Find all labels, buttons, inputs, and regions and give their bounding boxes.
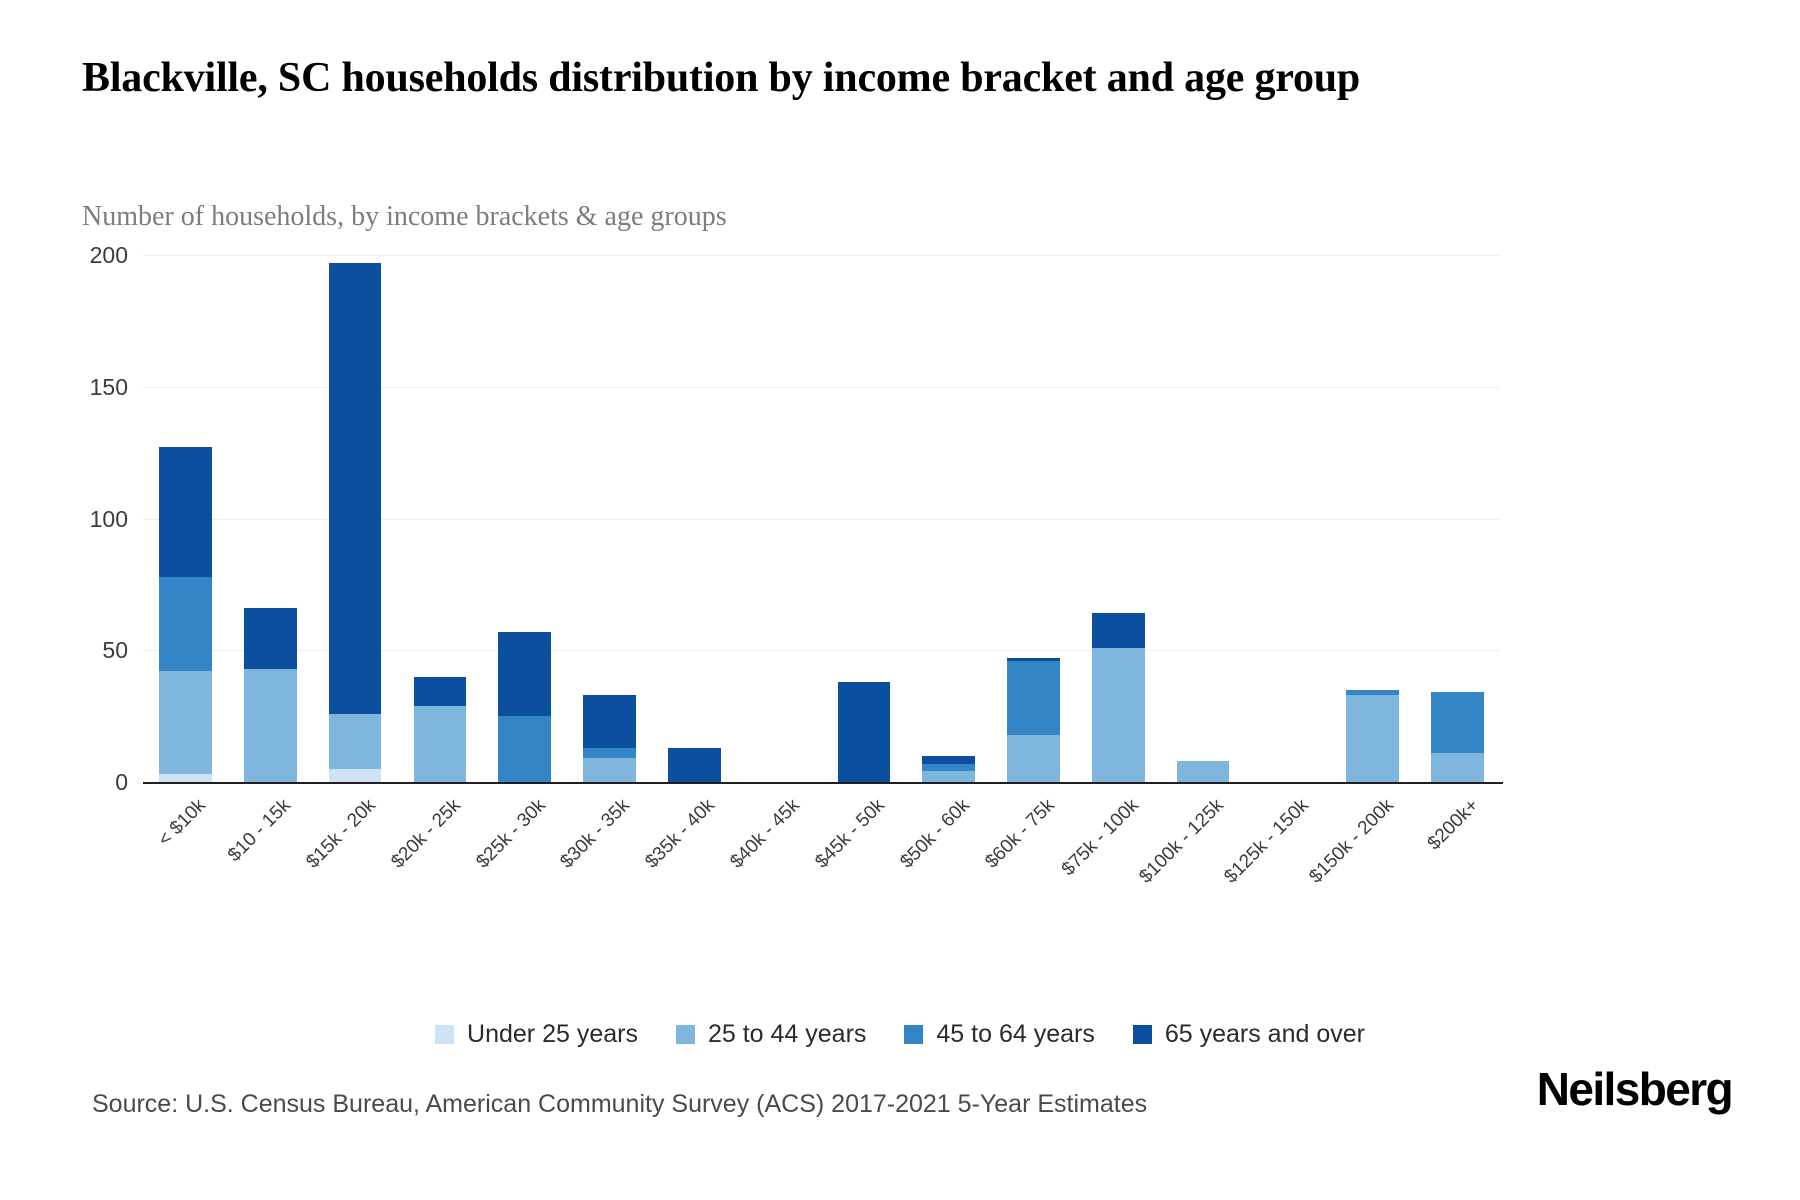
legend-item[interactable]: 45 to 64 years — [904, 1020, 1094, 1049]
bar-segment[interactable] — [668, 748, 721, 782]
bar-segment[interactable] — [329, 714, 382, 769]
bar-stack[interactable] — [1431, 692, 1484, 782]
bar-segment[interactable] — [498, 632, 551, 716]
x-axis-tick-label: $150k - 200k — [1305, 795, 1398, 888]
bar-stack[interactable] — [1092, 613, 1145, 782]
bar-segment[interactable] — [1007, 661, 1060, 735]
x-axis-tick-label: $35k - 40k — [642, 795, 720, 873]
legend-swatch-icon — [904, 1025, 923, 1044]
legend-item[interactable]: 65 years and over — [1133, 1020, 1365, 1049]
bar-segment[interactable] — [583, 748, 636, 759]
x-axis-tick-label: $20k - 25k — [387, 795, 465, 873]
y-axis-tick-label: 200 — [8, 242, 128, 269]
x-axis-tick-label: $60k - 75k — [981, 795, 1059, 873]
brand-logo: Neilsberg — [1537, 1062, 1732, 1116]
bar-segment[interactable] — [1177, 761, 1230, 782]
legend-label: 65 years and over — [1165, 1020, 1365, 1049]
legend-item[interactable]: 25 to 44 years — [676, 1020, 866, 1049]
bar-segment[interactable] — [583, 758, 636, 782]
bar-segment[interactable] — [1092, 648, 1145, 782]
gridline — [143, 255, 1500, 256]
bar-segment[interactable] — [1346, 695, 1399, 782]
x-axis-tick-label: $125k - 150k — [1220, 795, 1313, 888]
bar-stack[interactable] — [583, 695, 636, 782]
bar-stack[interactable] — [1177, 761, 1230, 782]
bar-stack[interactable] — [159, 447, 212, 782]
bar-segment[interactable] — [414, 706, 467, 782]
y-axis-tick-label: 0 — [8, 769, 128, 796]
bar-segment[interactable] — [838, 682, 891, 782]
x-axis-tick-label: $75k - 100k — [1058, 795, 1144, 881]
page-title: Blackville, SC households distribution b… — [82, 52, 1642, 104]
bar-segment[interactable] — [159, 447, 212, 576]
x-axis-tick-label: $45k - 50k — [811, 795, 889, 873]
bar-stack[interactable] — [838, 682, 891, 782]
source-note: Source: U.S. Census Bureau, American Com… — [92, 1090, 1147, 1119]
bar-stack[interactable] — [1346, 690, 1399, 782]
bar-segment[interactable] — [922, 756, 975, 764]
bar-segment[interactable] — [1431, 692, 1484, 753]
x-axis-tick-label: $10 - 15k — [224, 795, 296, 867]
x-axis-tick-label: $25k - 30k — [472, 795, 550, 873]
legend-swatch-icon — [435, 1025, 454, 1044]
bar-segment[interactable] — [1007, 735, 1060, 782]
bar-segment[interactable] — [1092, 613, 1145, 647]
bar-stack[interactable] — [668, 748, 721, 782]
y-axis-tick-label: 150 — [8, 374, 128, 401]
bar-segment[interactable] — [244, 669, 297, 782]
x-axis-line — [143, 782, 1503, 784]
bar-stack[interactable] — [1007, 658, 1060, 782]
x-axis-tick-label: $50k - 60k — [896, 795, 974, 873]
y-axis-tick-label: 100 — [8, 506, 128, 533]
x-axis-tick-label: $30k - 35k — [557, 795, 635, 873]
x-axis-tick-label: $40k - 45k — [726, 795, 804, 873]
bar-segment[interactable] — [159, 671, 212, 774]
bar-segment[interactable] — [329, 263, 382, 714]
bar-segment[interactable] — [414, 677, 467, 706]
legend-swatch-icon — [1133, 1025, 1152, 1044]
bar-segment[interactable] — [1431, 753, 1484, 782]
bar-stack[interactable] — [244, 608, 297, 782]
bar-segment[interactable] — [329, 769, 382, 782]
legend-swatch-icon — [676, 1025, 695, 1044]
bar-segment[interactable] — [922, 764, 975, 772]
bar-segment[interactable] — [159, 577, 212, 672]
bar-segment[interactable] — [498, 716, 551, 782]
bar-stack[interactable] — [498, 632, 551, 782]
x-axis-tick-label: $200k+ — [1423, 795, 1483, 855]
bar-segment[interactable] — [583, 695, 636, 748]
bar-segment[interactable] — [922, 771, 975, 782]
chart-legend: Under 25 years25 to 44 years45 to 64 yea… — [0, 1020, 1800, 1049]
bar-segment[interactable] — [244, 608, 297, 669]
x-axis-tick-label: < $10k — [155, 795, 211, 851]
y-axis-tick-label: 50 — [8, 637, 128, 664]
x-axis-tick-label: $15k - 20k — [302, 795, 380, 873]
legend-item[interactable]: Under 25 years — [435, 1020, 638, 1049]
legend-label: 45 to 64 years — [936, 1020, 1094, 1049]
plot-area — [143, 255, 1500, 782]
chart-subtitle: Number of households, by income brackets… — [82, 200, 1582, 234]
bar-stack[interactable] — [922, 756, 975, 782]
bar-stack[interactable] — [414, 677, 467, 782]
legend-label: 25 to 44 years — [708, 1020, 866, 1049]
x-axis-tick-label: $100k - 125k — [1135, 795, 1228, 888]
bar-stack[interactable] — [329, 263, 382, 782]
bar-segment[interactable] — [159, 774, 212, 782]
legend-label: Under 25 years — [467, 1020, 638, 1049]
